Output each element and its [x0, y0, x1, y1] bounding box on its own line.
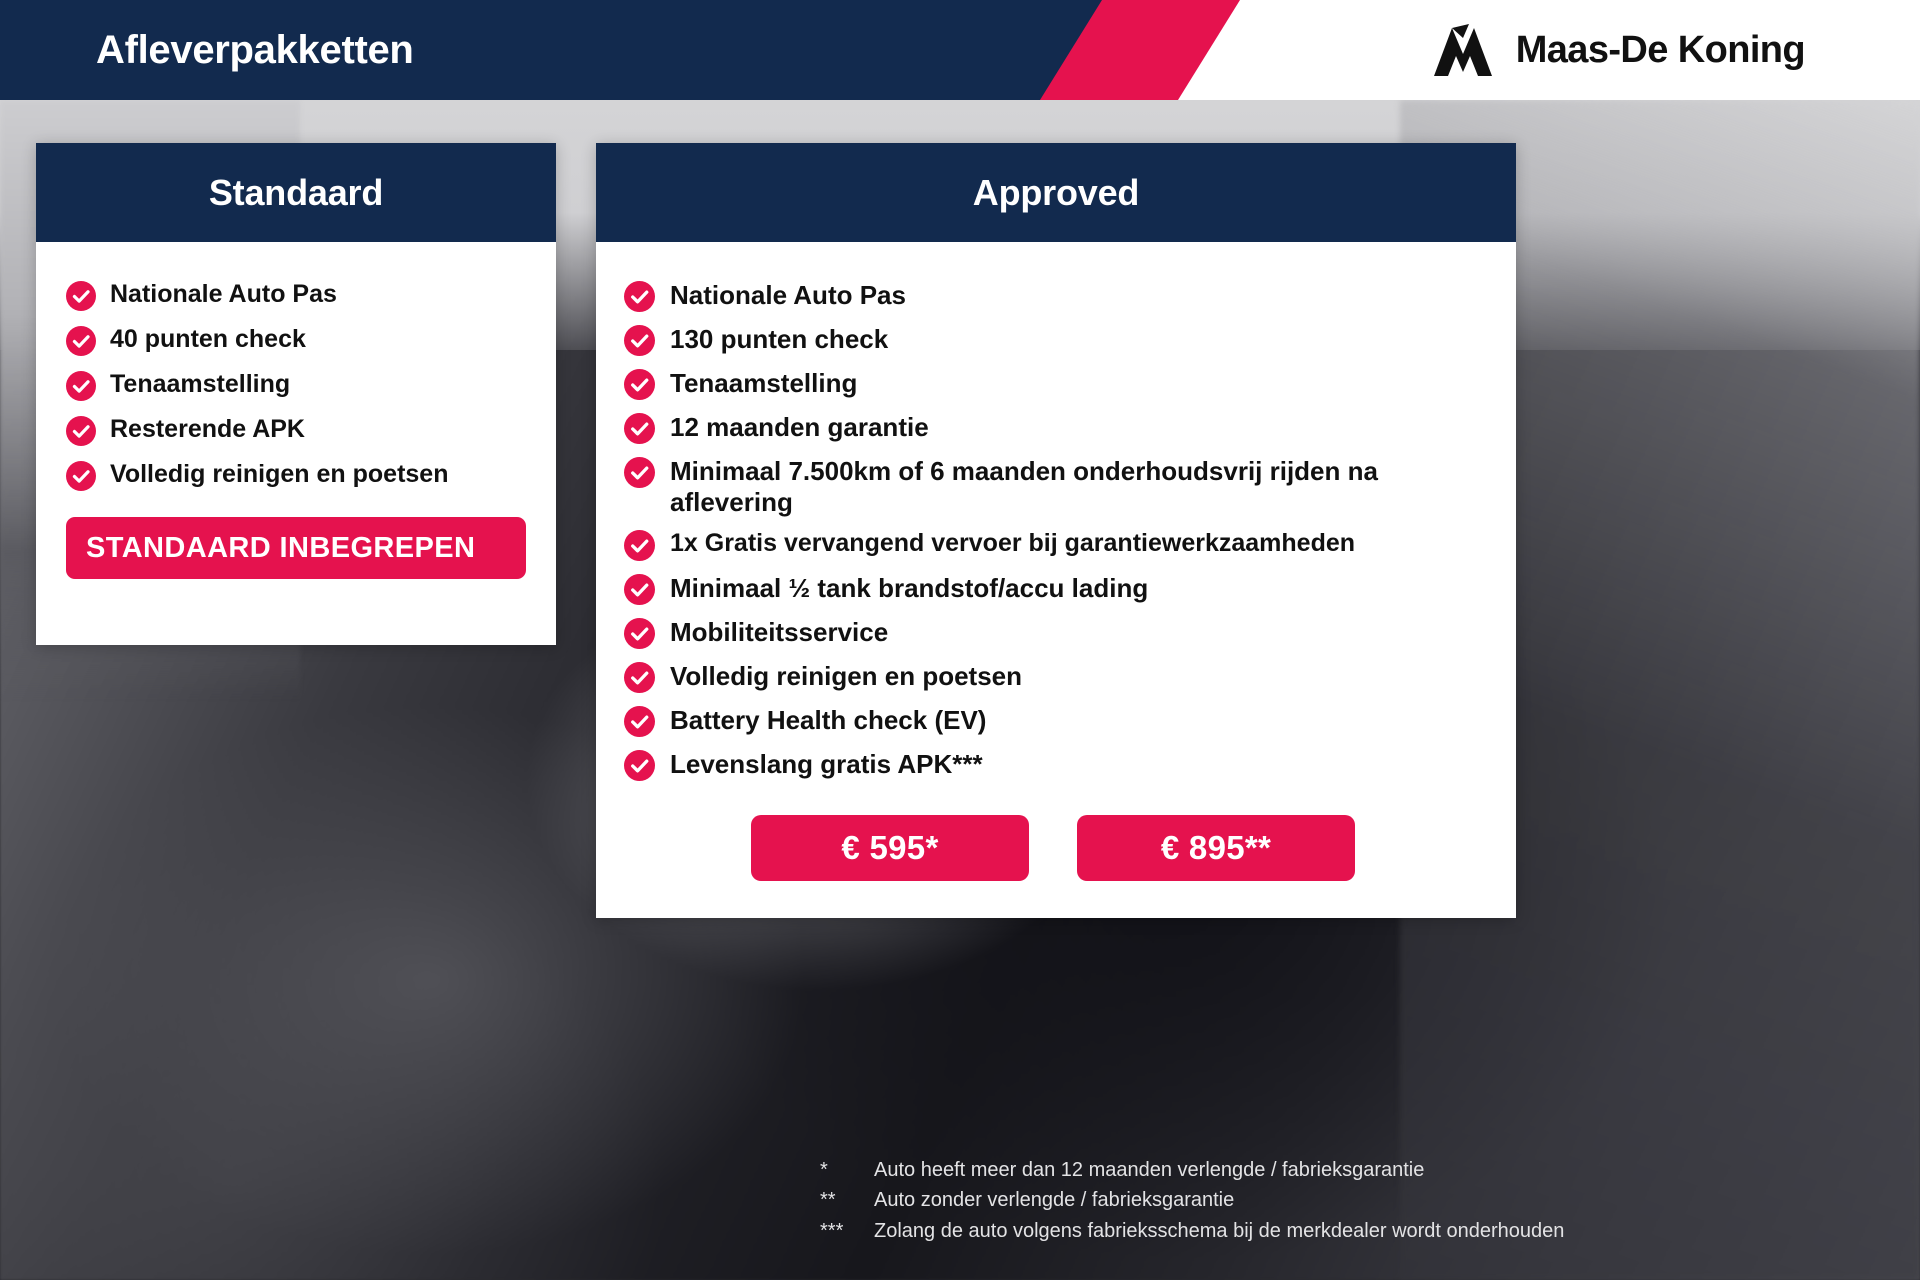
feature-label: Tenaamstelling	[110, 370, 290, 400]
standaard-inbegrepen-button[interactable]: STANDAARD INBEGREPEN	[66, 517, 526, 579]
feature-item: 1x Gratis vervangend vervoer bij garanti…	[624, 529, 1482, 561]
card-title-standaard: Standaard	[36, 143, 556, 242]
package-card-standaard: Standaard Nationale Auto Pas 40 punten c…	[36, 143, 556, 645]
feature-label: Nationale Auto Pas	[110, 280, 337, 310]
feature-item: Mobiliteitsservice	[624, 617, 1482, 649]
feature-item: 40 punten check	[66, 325, 526, 356]
feature-item: Volledig reinigen en poetsen	[66, 460, 526, 491]
check-circle-icon	[624, 662, 655, 693]
footnote-item: *** Zolang de auto volgens fabrieksschem…	[820, 1216, 1770, 1246]
price-button-row: € 595* € 895**	[624, 815, 1482, 881]
check-circle-icon	[624, 457, 655, 488]
feature-label: Battery Health check (EV)	[670, 705, 986, 736]
price-button-895[interactable]: € 895**	[1077, 815, 1355, 881]
feature-item: 130 punten check	[624, 324, 1482, 356]
feature-item: Battery Health check (EV)	[624, 705, 1482, 737]
check-circle-icon	[624, 413, 655, 444]
feature-item: Tenaamstelling	[624, 368, 1482, 400]
feature-label: Tenaamstelling	[670, 368, 857, 399]
footnote-text: Auto heeft meer dan 12 maanden verlengde…	[874, 1155, 1770, 1185]
feature-item: Levenslang gratis APK***	[624, 749, 1482, 781]
feature-item: Volledig reinigen en poetsen	[624, 661, 1482, 693]
page-title: Afleverpakketten	[96, 0, 414, 100]
footnote-item: * Auto heeft meer dan 12 maanden verleng…	[820, 1155, 1770, 1185]
feature-label: Volledig reinigen en poetsen	[110, 460, 448, 490]
price-button-595[interactable]: € 595*	[751, 815, 1029, 881]
feature-item: Minimaal ½ tank brandstof/accu lading	[624, 573, 1482, 605]
feature-label: Volledig reinigen en poetsen	[670, 661, 1022, 692]
check-circle-icon	[624, 325, 655, 356]
maas-de-koning-m-logo-icon	[1432, 24, 1494, 76]
check-circle-icon	[66, 326, 96, 356]
footnote-text: Auto zonder verlengde / fabrieksgarantie	[874, 1185, 1770, 1215]
feature-label: Levenslang gratis APK***	[670, 749, 983, 780]
feature-label: 1x Gratis vervangend vervoer bij garanti…	[670, 529, 1355, 559]
feature-item: Minimaal 7.500km of 6 maanden onderhouds…	[624, 456, 1482, 517]
footnote-marker: *	[820, 1155, 874, 1185]
feature-label: Minimaal 7.500km of 6 maanden onderhouds…	[670, 456, 1430, 517]
check-circle-icon	[624, 281, 655, 312]
page-header: Afleverpakketten Maas-De Koning	[0, 0, 1920, 100]
feature-item: Nationale Auto Pas	[624, 280, 1482, 312]
feature-label: Nationale Auto Pas	[670, 280, 906, 311]
check-circle-icon	[624, 530, 655, 561]
check-circle-icon	[624, 574, 655, 605]
footnote-text: Zolang de auto volgens fabrieksschema bi…	[874, 1216, 1770, 1246]
footnote-item: ** Auto zonder verlengde / fabrieksgaran…	[820, 1185, 1770, 1215]
check-circle-icon	[624, 369, 655, 400]
card-title-approved: Approved	[596, 143, 1516, 242]
brand-name: Maas-De Koning	[1516, 29, 1805, 72]
package-card-approved: Approved Nationale Auto Pas 130 punten c…	[596, 143, 1516, 918]
footnote-marker: **	[820, 1185, 874, 1215]
check-circle-icon	[66, 371, 96, 401]
feature-label: 40 punten check	[110, 325, 306, 355]
check-circle-icon	[624, 618, 655, 649]
feature-item: Nationale Auto Pas	[66, 280, 526, 311]
brand-logo: Maas-De Koning	[1432, 0, 1805, 100]
feature-label: Mobiliteitsservice	[670, 617, 888, 648]
feature-label: 130 punten check	[670, 324, 888, 355]
check-circle-icon	[624, 706, 655, 737]
check-circle-icon	[624, 750, 655, 781]
card-body-approved: Nationale Auto Pas 130 punten check Tena…	[596, 242, 1516, 918]
feature-label: Resterende APK	[110, 415, 305, 445]
feature-label: Minimaal ½ tank brandstof/accu lading	[670, 573, 1148, 604]
check-circle-icon	[66, 416, 96, 446]
feature-item: Tenaamstelling	[66, 370, 526, 401]
card-body-standaard: Nationale Auto Pas 40 punten check Tenaa…	[36, 242, 556, 645]
feature-label: 12 maanden garantie	[670, 412, 929, 443]
footnotes: * Auto heeft meer dan 12 maanden verleng…	[820, 1155, 1770, 1246]
check-circle-icon	[66, 281, 96, 311]
footnote-marker: ***	[820, 1216, 874, 1246]
check-circle-icon	[66, 461, 96, 491]
feature-item: 12 maanden garantie	[624, 412, 1482, 444]
feature-item: Resterende APK	[66, 415, 526, 446]
